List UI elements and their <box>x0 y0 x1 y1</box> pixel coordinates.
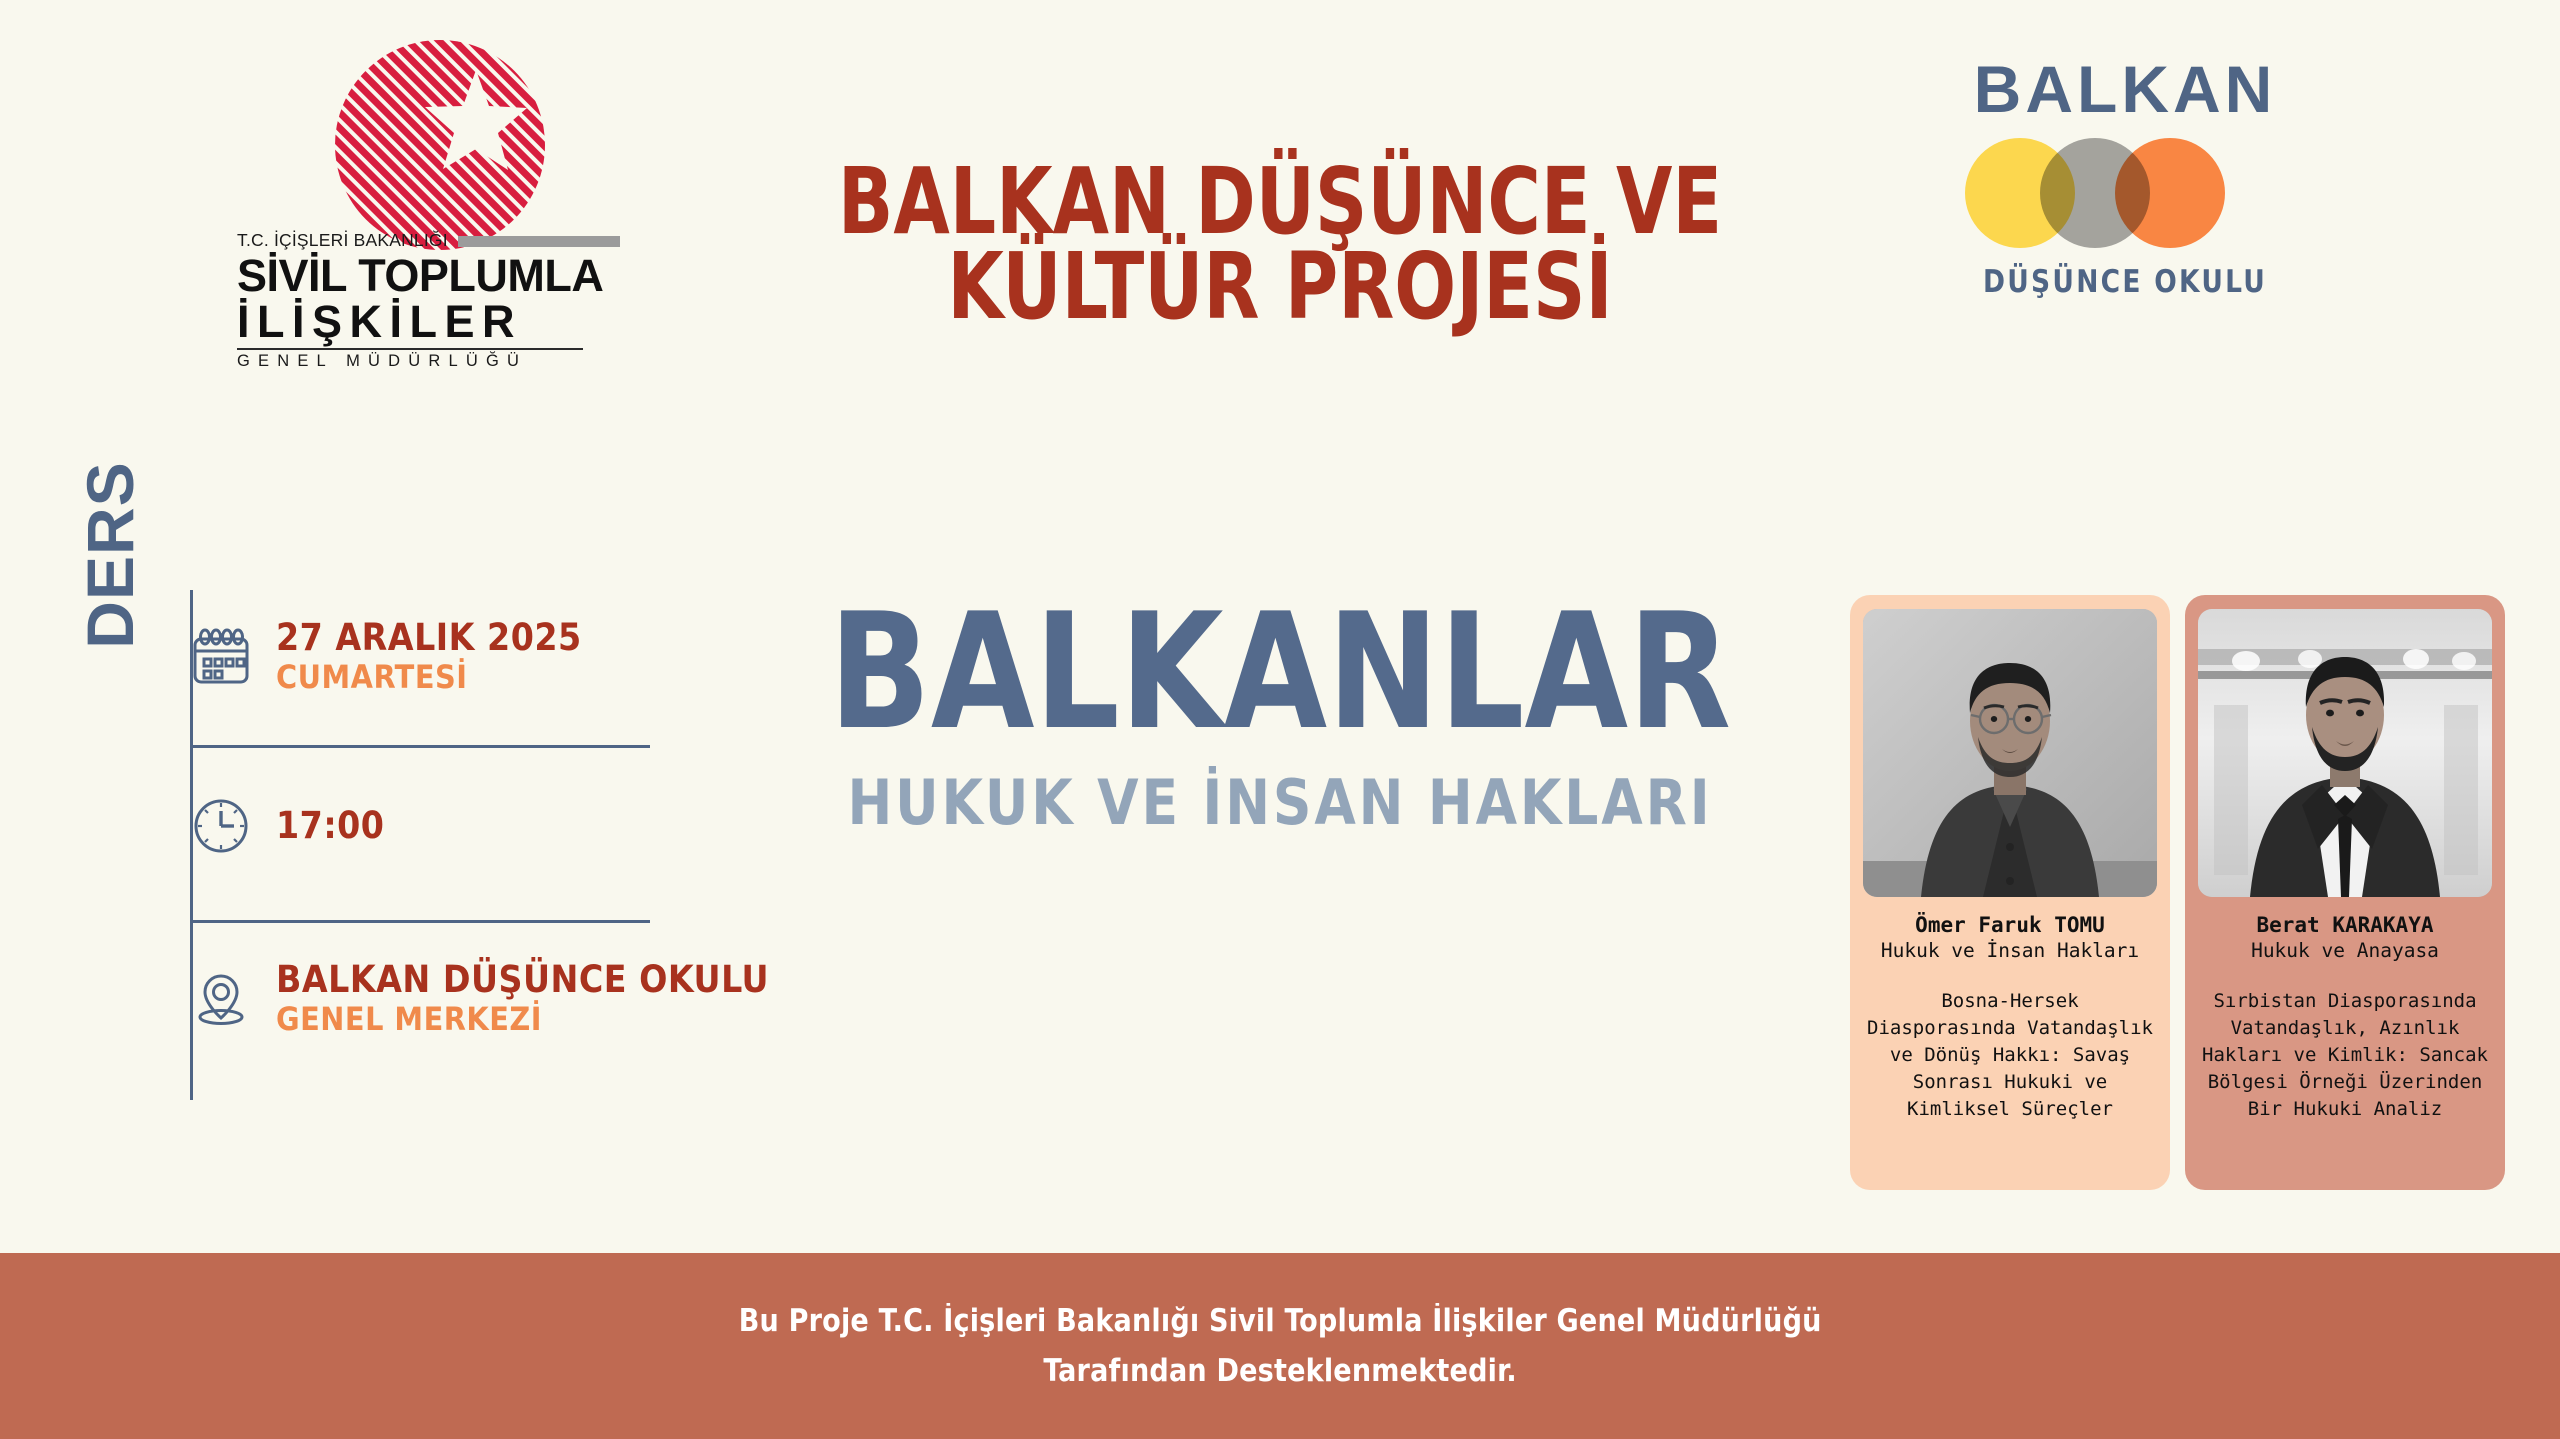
speaker-topic: Sırbistan Diasporasında Vatandaşlık, Azı… <box>2195 988 2495 1123</box>
headline-sub: HUKUK VE İNSAN HAKLARI <box>781 766 1779 839</box>
ders-separator-1 <box>190 745 650 748</box>
speaker-name: Berat KARAKAYA <box>2256 913 2433 937</box>
ministry-line1: T.C. İÇİŞLERİ BAKANLIĞI <box>237 230 448 251</box>
event-venue: BALKAN DÜŞÜNCE OKULU <box>276 958 769 1001</box>
headline-block: BALKANLAR HUKUK VE İNSAN HAKLARI <box>760 600 1800 839</box>
info-text-time: 17:00 <box>276 806 384 847</box>
ministry-wordmark: T.C. İÇİŞLERİ BAKANLIĞI SİVİL TOPLUMLA İ… <box>150 230 620 371</box>
portrait-man-glasses-dark-shirt <box>1863 609 2157 897</box>
speaker-name: Ömer Faruk TOMU <box>1915 913 2105 937</box>
balkan-dusunce-okulu-logo: BALKAN DÜŞÜNCE OKULU <box>1900 50 2350 320</box>
footer-support-banner: Bu Proje T.C. İçişleri Bakanlığı Sivil T… <box>0 1253 2560 1439</box>
event-day: CUMARTESİ <box>276 658 467 696</box>
location-pin-icon <box>190 968 252 1030</box>
project-title: BALKAN DÜŞÜNCE VE KÜLTÜR PROJESİ <box>760 160 1800 329</box>
event-date: 27 ARALIK 2025 <box>276 616 582 659</box>
event-venue-detail: GENEL MERKEZİ <box>276 1000 542 1038</box>
speaker-role: Hukuk ve İnsan Hakları <box>1881 939 2139 962</box>
ministry-line1-row: T.C. İÇİŞLERİ BAKANLIĞI <box>150 230 620 251</box>
ministry-line4: GENEL MÜDÜRLÜĞÜ <box>150 352 620 371</box>
ministry-gray-bar <box>458 236 620 247</box>
venn-circle-orange <box>2115 138 2225 248</box>
calendar-icon <box>190 626 252 688</box>
info-row-date: 27 ARALIK 2025 CUMARTESİ <box>190 618 680 695</box>
turkish-flag-star-crescent-emblem <box>330 30 550 260</box>
info-row-time: 17:00 <box>190 795 680 857</box>
speaker-card: Ömer Faruk TOMU Hukuk ve İnsan Hakları B… <box>1850 595 2170 1190</box>
info-text-location: BALKAN DÜŞÜNCE OKULU GENEL MERKEZİ <box>276 960 769 1037</box>
ministry-divider <box>237 348 583 350</box>
project-title-line2: KÜLTÜR PROJESİ <box>822 245 1737 330</box>
event-time: 17:00 <box>276 804 384 847</box>
ministry-line2: SİVİL TOPLUMLA <box>150 253 620 299</box>
speaker-card: Berat KARAKAYA Hukuk ve Anayasa Sırbista… <box>2185 595 2505 1190</box>
ministry-line3: İLİŞKİLER <box>150 299 620 345</box>
clock-icon <box>190 795 252 857</box>
footer-line1: Bu Proje T.C. İçişleri Bakanlığı Sivil T… <box>739 1303 1822 1339</box>
ministry-logo: T.C. İÇİŞLERİ BAKANLIĞI SİVİL TOPLUMLA İ… <box>150 30 620 330</box>
speaker-cards: Ömer Faruk TOMU Hukuk ve İnsan Hakları B… <box>1850 595 2505 1190</box>
ders-info-block: DERS 27 ARALIK 2025 CUMARTESİ <box>80 590 680 1100</box>
balkan-subtitle: DÜŞÜNCE OKULU <box>1911 264 2339 300</box>
speaker-role: Hukuk ve Anayasa <box>2251 939 2439 962</box>
ders-separator-2 <box>190 920 650 923</box>
info-text-date: 27 ARALIK 2025 CUMARTESİ <box>276 618 680 695</box>
info-row-location: BALKAN DÜŞÜNCE OKULU GENEL MERKEZİ <box>190 960 680 1037</box>
balkan-wordmark: BALKAN <box>1900 56 2350 122</box>
headline-main: BALKANLAR <box>796 600 1763 744</box>
venn-circles-icon <box>1965 138 2285 248</box>
speaker-topic: Bosna-Hersek Diasporasında Vatandaşlık v… <box>1860 988 2160 1123</box>
footer-line2: Tarafından Desteklenmektedir. <box>1043 1353 1517 1389</box>
ders-vertical-label: DERS <box>72 410 148 700</box>
portrait-man-suit-tie <box>2198 609 2492 897</box>
